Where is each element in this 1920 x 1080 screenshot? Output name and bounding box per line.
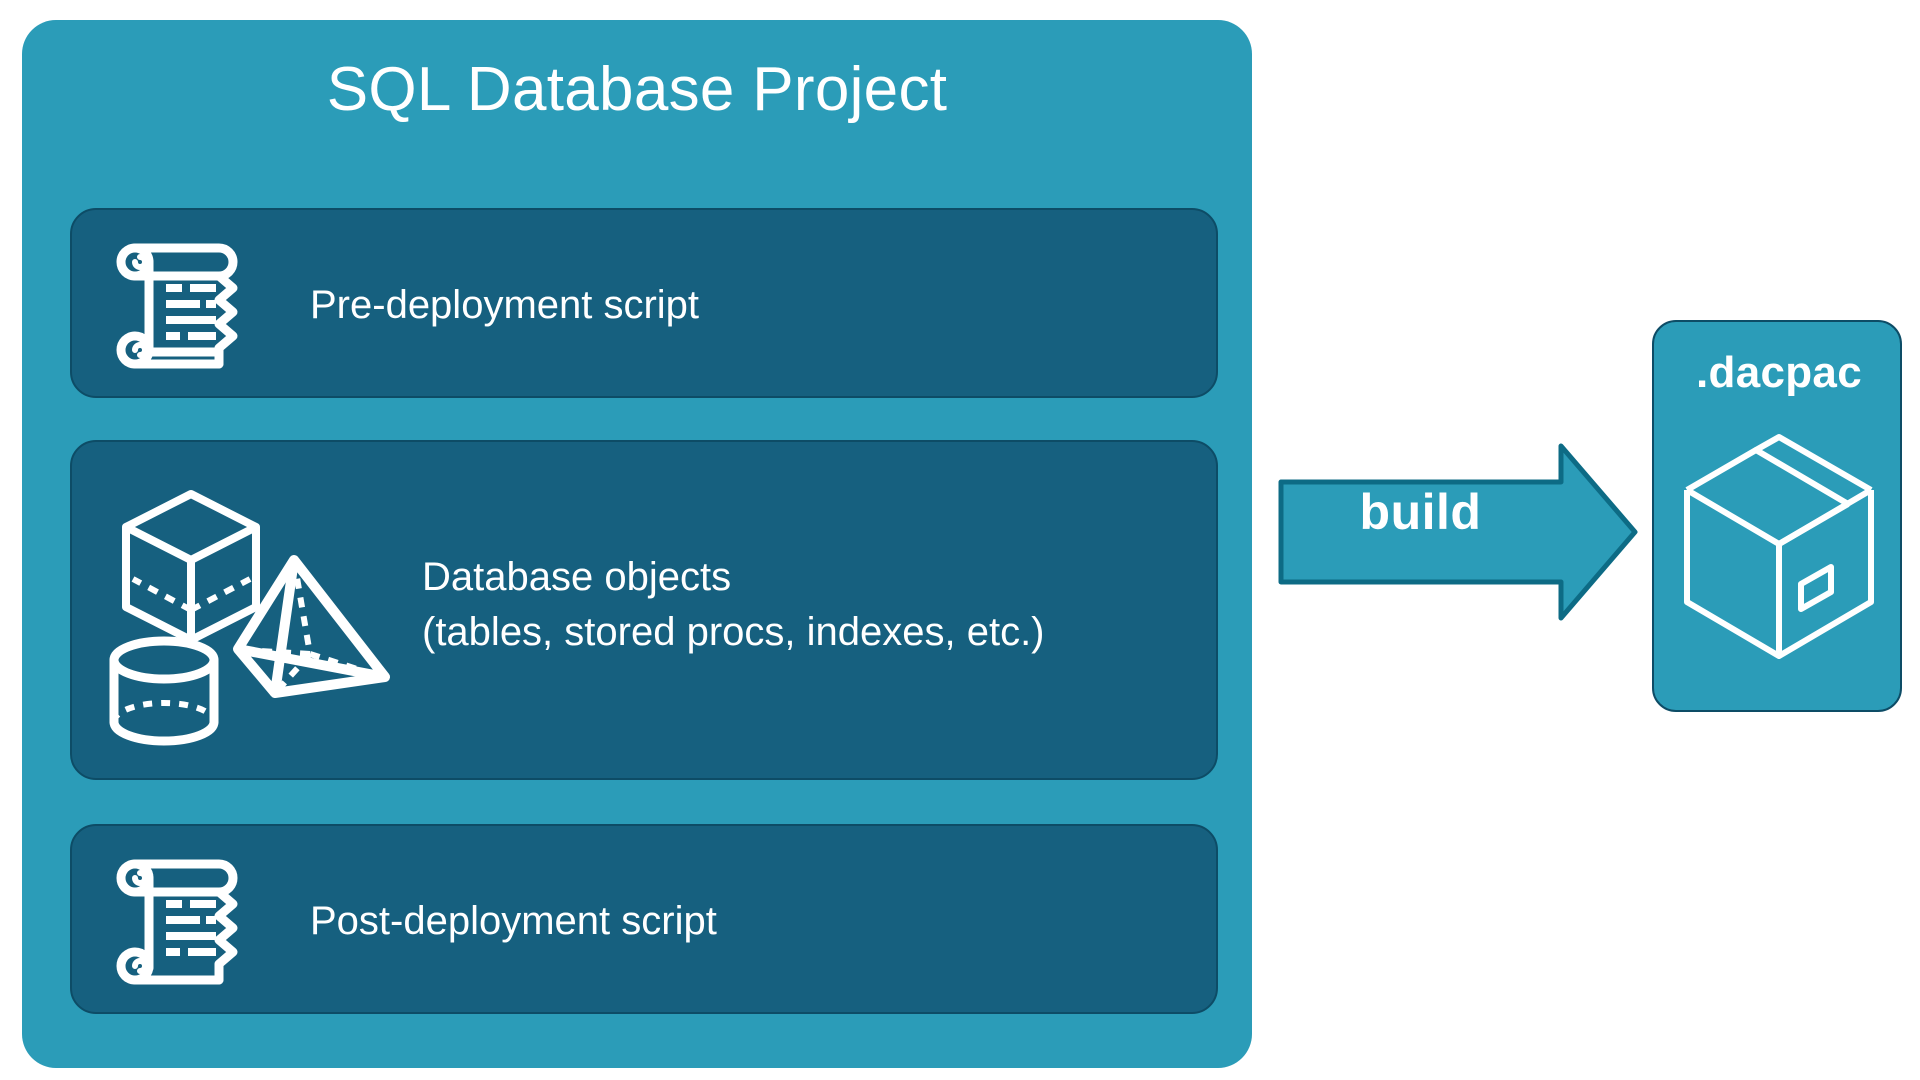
right-arrow-icon — [1278, 443, 1638, 621]
card-pre-deployment-script[interactable]: Pre-deployment script — [70, 208, 1218, 398]
pyramid-icon — [238, 560, 385, 693]
pre-deployment-script-label: Pre-deployment script — [310, 278, 699, 333]
card-database-objects[interactable]: Database objects (tables, stored procs, … — [70, 440, 1218, 780]
database-objects-label: Database objects (tables, stored procs, … — [422, 550, 1045, 660]
dacpac-output-card[interactable]: .dacpac — [1652, 320, 1902, 712]
3d-shapes-icon — [98, 464, 398, 759]
card-post-deployment-script[interactable]: Post-deployment script — [70, 824, 1218, 1014]
cube-icon — [126, 494, 256, 640]
diagram-canvas: SQL Database Project — [0, 0, 1920, 1080]
cylinder-icon — [114, 641, 214, 741]
project-title: SQL Database Project — [22, 56, 1252, 124]
scroll-icon — [102, 844, 252, 1004]
sql-database-project-container: SQL Database Project — [22, 20, 1252, 1068]
package-box-icon — [1681, 432, 1877, 669]
dacpac-title: .dacpac — [1654, 348, 1904, 398]
post-deployment-script-label: Post-deployment script — [310, 894, 717, 949]
scroll-icon — [102, 228, 252, 388]
